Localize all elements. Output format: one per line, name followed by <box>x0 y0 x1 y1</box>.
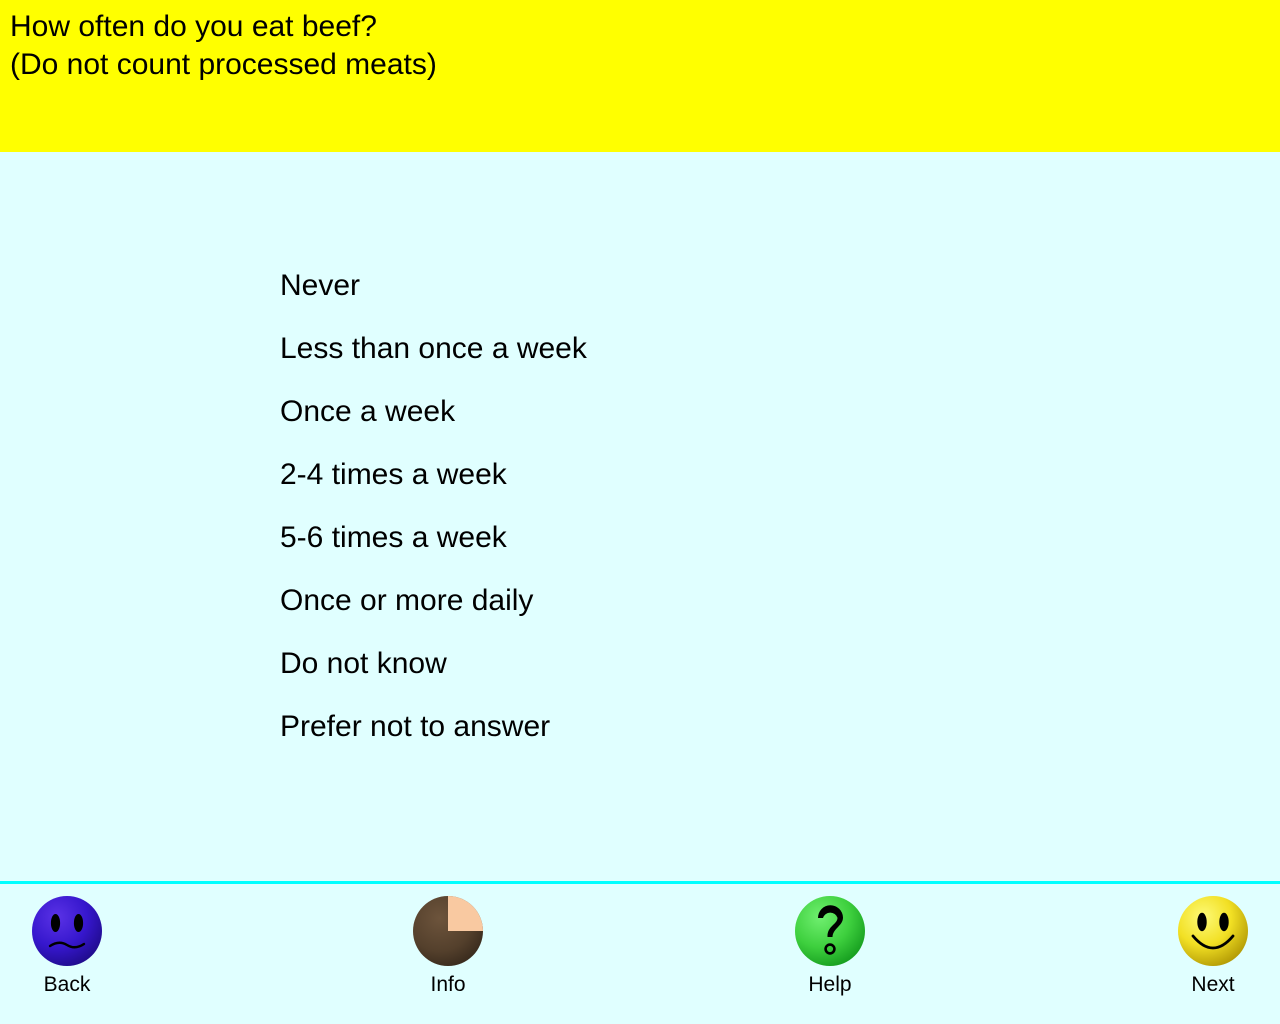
info-button[interactable]: Info <box>373 892 523 998</box>
back-button-label: Back <box>0 972 142 998</box>
answer-option-once-a-week[interactable]: Once a week <box>280 392 1060 455</box>
question-text-line-1: How often do you eat beef? <box>10 8 1280 46</box>
question-text-line-2: (Do not count processed meats) <box>10 46 1280 84</box>
answer-option-less-than-once-a-week[interactable]: Less than once a week <box>280 329 1060 392</box>
next-button-label: Next <box>1138 972 1280 998</box>
answer-option-prefer-not-to-answer[interactable]: Prefer not to answer <box>280 707 1060 770</box>
answer-option-2-4-times-a-week[interactable]: 2-4 times a week <box>280 455 1060 518</box>
green-question-mark-icon <box>791 892 869 970</box>
yellow-smiley-face-icon <box>1174 892 1252 970</box>
question-banner: How often do you eat beef? (Do not count… <box>0 0 1280 152</box>
footer-navigation-bar: Back Info <box>0 884 1280 1024</box>
brown-pie-chart-icon <box>409 892 487 970</box>
answer-option-5-6-times-a-week[interactable]: 5-6 times a week <box>280 518 1060 581</box>
help-button-label: Help <box>755 972 905 998</box>
answer-option-never[interactable]: Never <box>280 266 1060 329</box>
back-button[interactable]: Back <box>0 892 142 998</box>
answer-option-do-not-know[interactable]: Do not know <box>280 644 1060 707</box>
info-button-label: Info <box>373 972 523 998</box>
next-button[interactable]: Next <box>1138 892 1280 998</box>
blue-neutral-face-icon <box>28 892 106 970</box>
help-button[interactable]: Help <box>755 892 905 998</box>
answer-options-list: Never Less than once a week Once a week … <box>280 266 1060 770</box>
answer-option-once-or-more-daily[interactable]: Once or more daily <box>280 581 1060 644</box>
